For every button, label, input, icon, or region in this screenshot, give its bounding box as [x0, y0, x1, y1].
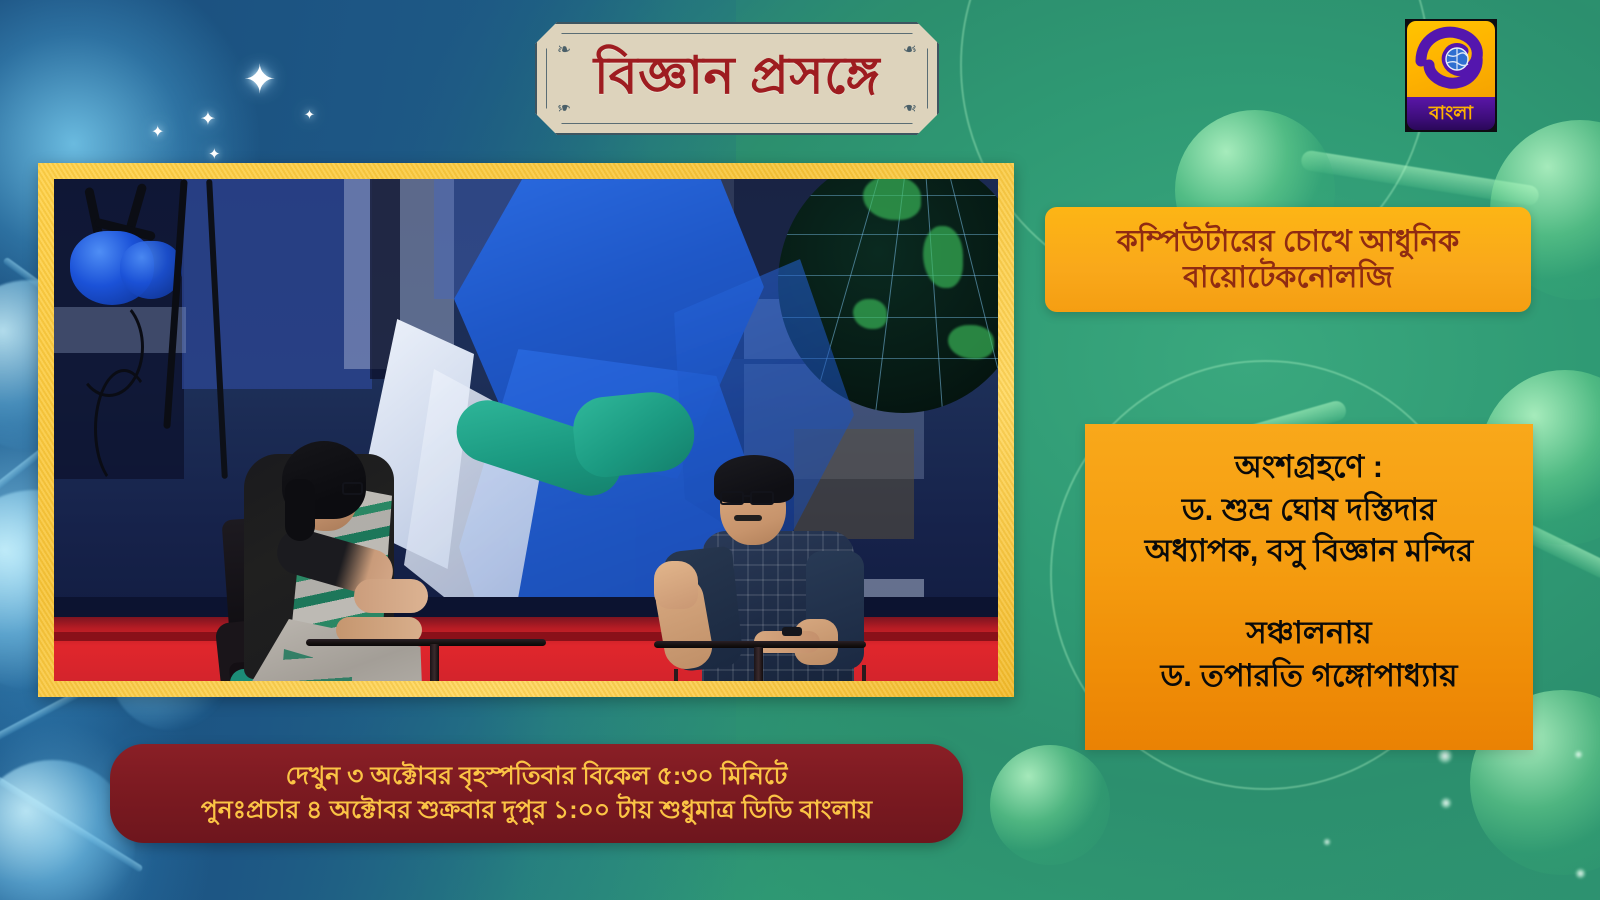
topic-line-2: বায়োটেকনোলজি: [1183, 260, 1393, 296]
leaf-ornament-icon: ❧: [897, 94, 923, 120]
host-label: সঞ্চালনায়: [1246, 614, 1371, 653]
schedule-line-1: দেখুন ৩ অক্টোবর বৃহস্পতিবার বিকেল ৫:৩০ ম…: [286, 760, 788, 794]
dd-bangla-wordmark: বাংলা: [1407, 97, 1495, 130]
studio-photo-frame: [38, 163, 1014, 697]
schedule-line-2: পুনঃপ্রচার ৪ অক্টোবর শুক্রবার দুপুর ১:০০…: [201, 794, 872, 828]
guest-affiliation: অধ্যাপক, বসু বিজ্ঞান মন্দির: [1145, 532, 1473, 571]
topic-box: কম্পিউটারের চোখে আধুনিক বায়োটেকনোলজি: [1045, 207, 1531, 312]
topic-line-1: কম্পিউটারের চোখে আধুনিক: [1117, 224, 1460, 260]
schedule-bar: দেখুন ৩ অক্টোবর বৃহস্পতিবার বিকেল ৫:৩০ ম…: [110, 744, 963, 843]
dd-logo-text: বাংলা: [1429, 104, 1473, 123]
leaf-ornament-icon: ❧: [897, 37, 923, 63]
participants-box: অংশগ্রহণে : ড. শুভ্র ঘোষ দস্তিদার অধ্যাপ…: [1085, 424, 1533, 750]
programme-title: বিজ্ঞান প্রসঙ্গে: [594, 35, 880, 122]
dd-eye-emblem-icon: [1407, 21, 1495, 97]
leaf-ornament-icon: ❧: [551, 37, 577, 63]
dd-bangla-logo: বাংলা: [1405, 19, 1497, 132]
guest-name: ড. শুভ্র ঘোষ দস্তিদার: [1182, 491, 1436, 530]
participants-heading: অংশগ্রহণে :: [1235, 448, 1383, 487]
programme-title-plaque: ❧ ❧ ❧ ❧ বিজ্ঞান প্রসঙ্গে: [535, 22, 939, 135]
host-name: ড. তপারতি গঙ্গোপাধ্যায়: [1160, 657, 1457, 696]
promo-stage: ✦ ✦ ✦ ✦ ✦ ❧ ❧ ❧ ❧ বিজ্ঞান প্রসঙ্গে: [0, 0, 1600, 900]
studio-photo: [54, 179, 998, 681]
leaf-ornament-icon: ❧: [551, 94, 577, 120]
